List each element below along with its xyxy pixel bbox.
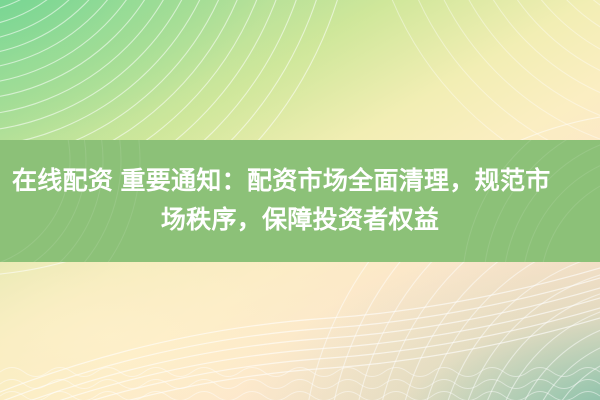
notice-band: 在线配资 重要通知：配资市场全面清理，规范市 场秩序，保障投资者权益 [0,140,600,262]
notice-banner: 在线配资 重要通知：配资市场全面清理，规范市 场秩序，保障投资者权益 [0,0,600,400]
notice-headline-line-1: 在线配资 重要通知：配资市场全面清理，规范市 [12,162,551,201]
notice-text-block: 在线配资 重要通知：配资市场全面清理，规范市 场秩序，保障投资者权益 [0,140,600,262]
notice-headline-line-2: 场秩序，保障投资者权益 [161,201,439,240]
